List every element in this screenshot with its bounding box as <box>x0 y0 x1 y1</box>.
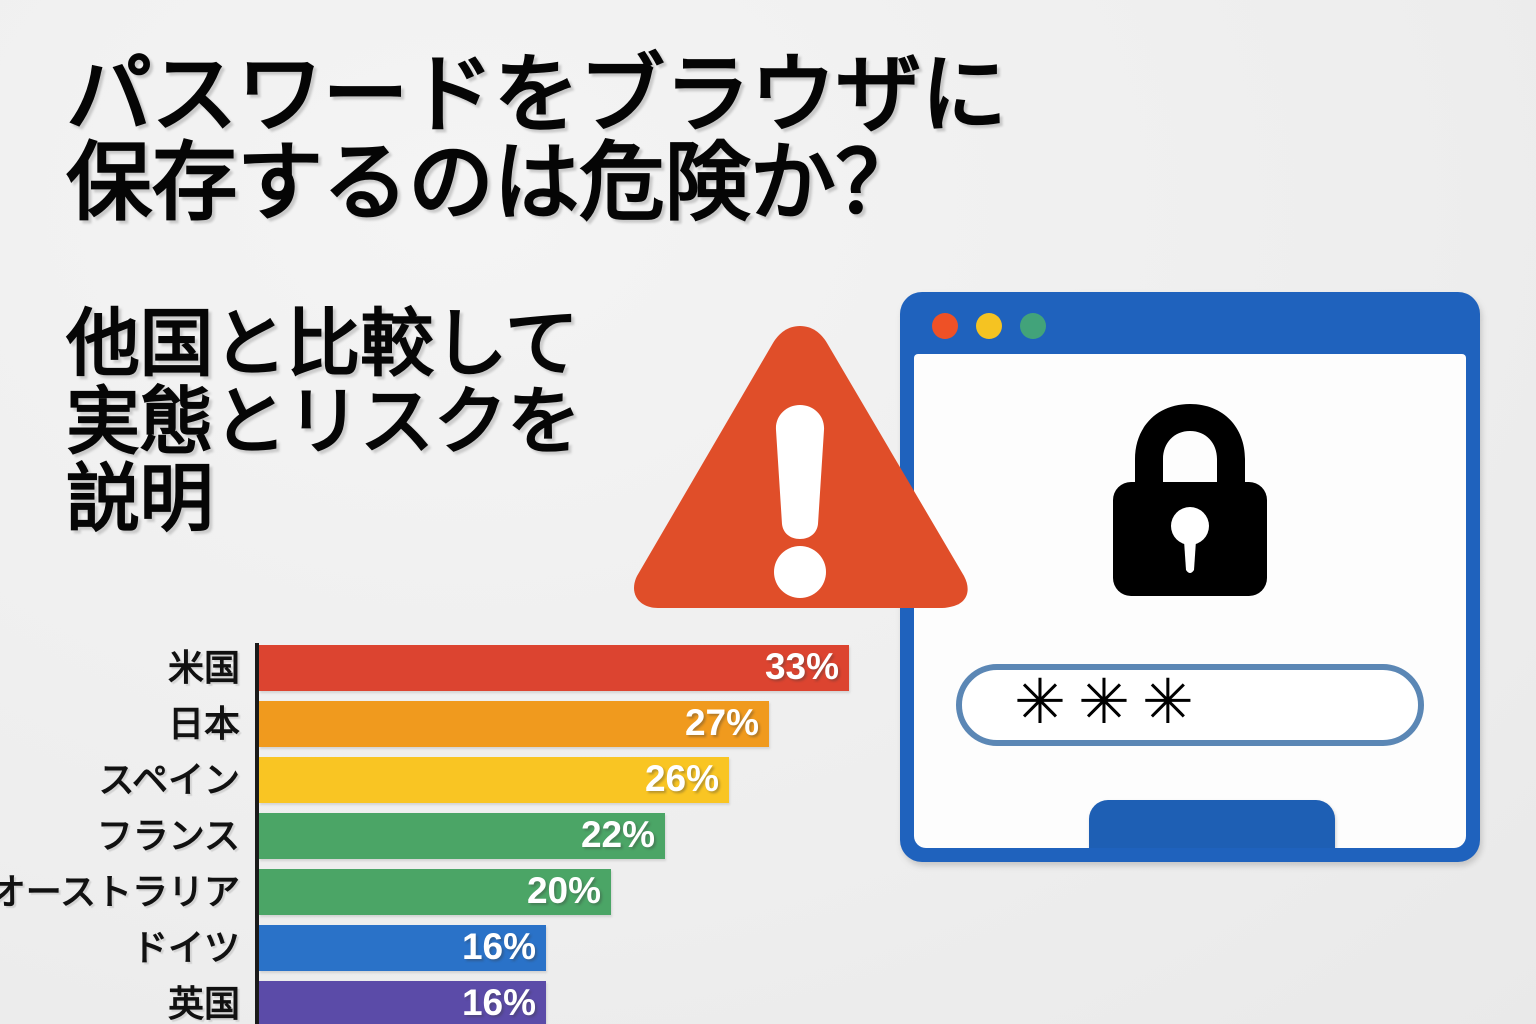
bar-value: 22% <box>581 813 655 859</box>
bar-value: 16% <box>462 981 536 1024</box>
table-row: 米国 33% <box>0 645 900 691</box>
bar-label: 米国 <box>168 645 240 691</box>
maximize-dot-icon[interactable] <box>1020 313 1046 339</box>
table-row: ドイツ 16% <box>0 925 900 971</box>
subhead-line-1: 他国と比較して <box>66 305 706 383</box>
bar-fill: 22% <box>259 813 665 859</box>
headline-line-1: パスワードをブラウザに <box>66 52 1156 140</box>
bar-track: 26% <box>259 757 729 803</box>
padlock-icon <box>1099 398 1281 600</box>
bar-label: ドイツ <box>132 925 240 971</box>
bar-value: 33% <box>765 645 839 691</box>
bar-label: 英国 <box>168 981 240 1024</box>
poster-canvas: パスワードをブラウザに 保存するのは危険か？ 他国と比較して 実態とリスクを 説… <box>0 0 1536 1024</box>
bar-value: 16% <box>462 925 536 971</box>
bar-fill: 33% <box>259 645 849 691</box>
bar-chart: 米国 33% 日本 27% スペイン 26% <box>0 632 900 1024</box>
bar-track: 16% <box>259 925 546 971</box>
browser-window-mock: ✳✳✳ <box>900 292 1480 862</box>
table-row: オーストラリア 20% <box>0 869 900 915</box>
bar-value: 27% <box>685 701 759 747</box>
browser-titlebar <box>908 300 1472 352</box>
minimize-dot-icon[interactable] <box>976 313 1002 339</box>
password-mask-value: ✳✳✳ <box>1014 671 1206 733</box>
page-subtitle: 他国と比較して 実態とリスクを 説明 <box>66 305 706 538</box>
bar-label: フランス <box>97 813 240 859</box>
subhead-line-2: 実態とリスクを <box>66 383 706 461</box>
table-row: スペイン 26% <box>0 757 900 803</box>
bar-track: 20% <box>259 869 611 915</box>
bar-track: 27% <box>259 701 769 747</box>
bar-fill: 16% <box>259 925 546 971</box>
bar-fill: 27% <box>259 701 769 747</box>
subhead-line-3: 説明 <box>66 460 706 538</box>
headline-line-2: 保存するのは危険か？ <box>66 140 1156 228</box>
table-row: 英国 16% <box>0 981 900 1024</box>
bar-fill: 16% <box>259 981 546 1024</box>
bar-label: 日本 <box>168 701 240 747</box>
submit-button[interactable] <box>1089 800 1335 848</box>
bar-label: オーストラリア <box>0 869 240 915</box>
bar-track: 33% <box>259 645 849 691</box>
bar-label: スペイン <box>99 757 240 803</box>
password-input[interactable]: ✳✳✳ <box>956 664 1424 746</box>
bar-value: 26% <box>645 757 719 803</box>
browser-viewport: ✳✳✳ <box>914 354 1466 848</box>
table-row: フランス 22% <box>0 813 900 859</box>
table-row: 日本 27% <box>0 701 900 747</box>
bar-track: 16% <box>259 981 546 1024</box>
warning-triangle-icon <box>624 312 976 614</box>
bar-value: 20% <box>527 869 601 915</box>
bar-fill: 26% <box>259 757 729 803</box>
page-title: パスワードをブラウザに 保存するのは危険か？ <box>66 52 1156 227</box>
bar-track: 22% <box>259 813 665 859</box>
bar-fill: 20% <box>259 869 611 915</box>
